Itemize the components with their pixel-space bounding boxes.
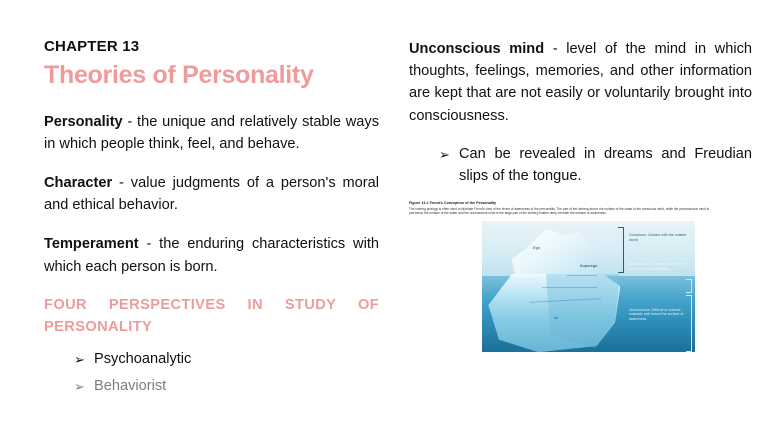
conscious-bracket xyxy=(618,227,624,274)
bullet-arrow-icon: ➢ xyxy=(74,349,85,370)
iceberg-contour-line xyxy=(567,275,597,276)
definition-temperament: Temperament - the enduring characteristi… xyxy=(44,233,379,277)
preconscious-bracket xyxy=(686,279,692,293)
slide-page: CHAPTER 13 Theories of Personality Perso… xyxy=(0,0,784,441)
iceberg-label-ego: Ego xyxy=(533,246,540,250)
definition-personality: Personality - the unique and relatively … xyxy=(44,111,379,155)
iceberg-contour-line xyxy=(542,287,597,288)
iceberg-diagram-image: Ego Superego Id Conscious: Contact with … xyxy=(482,221,695,352)
figure-caption-title: Figure 13.1 Freud's Conception of the Pe… xyxy=(409,201,752,205)
iceberg-label-superego: Superego xyxy=(580,264,597,268)
unconscious-bullet-list: ➢ Can be revealed in dreams and Freudian… xyxy=(409,144,752,188)
bullet-arrow-icon: ➢ xyxy=(439,144,450,165)
definition-character: Character - value judgments of a person'… xyxy=(44,172,379,216)
list-item-dreams-freudian-slips: ➢ Can be revealed in dreams and Freudian… xyxy=(439,144,752,188)
term-unconscious-mind: Unconscious mind xyxy=(409,41,544,57)
iceberg-side-label-unconscious: Unconscious: Difficult to retrieve mater… xyxy=(629,308,689,322)
iceberg-label-id: Id xyxy=(554,316,557,320)
list-item-behaviorist: ➢ Behaviorist xyxy=(74,376,379,398)
term-personality: Personality xyxy=(44,114,123,130)
page-title: Theories of Personality xyxy=(44,61,379,90)
definition-unconscious-mind: Unconscious mind - level of the mind in … xyxy=(409,38,752,127)
list-item-psychoanalytic: ➢ Psychoanalytic xyxy=(74,349,379,371)
term-temperament: Temperament xyxy=(44,236,139,252)
unconscious-bracket xyxy=(686,295,692,352)
list-item-label: Psychoanalytic xyxy=(94,351,191,367)
figure-container: Figure 13.1 Freud's Conception of the Pe… xyxy=(409,201,752,352)
bullet-arrow-icon: ➢ xyxy=(74,376,85,397)
figure-caption-body: The iceberg analogy is often used to ill… xyxy=(409,207,709,215)
term-character: Character xyxy=(44,175,112,191)
iceberg-side-label-preconscious: Preconscious: Material just beneath the … xyxy=(629,262,689,271)
list-item-label: Can be revealed in dreams and Freudian s… xyxy=(459,146,752,184)
right-column: Unconscious mind - level of the mind in … xyxy=(389,38,766,441)
left-column: CHAPTER 13 Theories of Personality Perso… xyxy=(18,38,389,441)
list-item-label: Behaviorist xyxy=(94,378,166,394)
chapter-label: CHAPTER 13 xyxy=(44,38,379,56)
perspectives-list: ➢ Psychoanalytic ➢ Behaviorist xyxy=(44,349,379,399)
section-heading-four-perspectives: FOUR PERSPECTIVES IN STUDY OF PERSONALIT… xyxy=(44,295,379,339)
iceberg-side-label-conscious: Conscious: Contact with the outside worl… xyxy=(629,233,689,242)
